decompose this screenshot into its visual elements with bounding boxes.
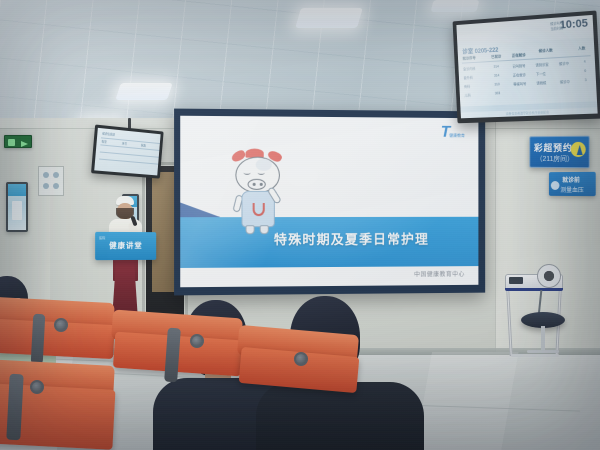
wall-bulletin-board <box>38 166 64 196</box>
tv-glare <box>456 15 597 118</box>
ceiling-light <box>295 8 363 28</box>
tv-left-label: 候诊信息屏 <box>102 131 115 136</box>
bp-monitor-stripe <box>505 288 563 291</box>
queue-board-screen: 10:05 候诊叫号 当前时间 诊室 0205-222 就诊序号 已就诊 正在就… <box>456 15 597 118</box>
panel-card <box>12 201 22 219</box>
panel-screen <box>8 184 26 230</box>
chair-armrest[interactable] <box>164 328 181 383</box>
sign-line-2: （211房间） <box>536 154 574 164</box>
podium-banner: 医院 健康讲堂 <box>95 232 156 260</box>
ceiling-tv-left: 候诊信息屏 科室 序号 状态 <box>91 125 164 179</box>
bp-sign-line-1: 就诊前 <box>562 175 580 184</box>
slide-logo-icon: T健康教育 <box>441 124 465 142</box>
logo-mark: T <box>441 124 450 141</box>
cow-mascot-icon <box>229 142 286 235</box>
tv-left-col: 序号 <box>122 141 127 145</box>
exit-sign-icon <box>4 135 32 148</box>
waiting-chairs-row[interactable] <box>0 300 294 450</box>
slide-footer: 中国健康教育中心 <box>414 269 465 278</box>
ceiling-light <box>115 83 173 100</box>
bp-monitor-display <box>509 277 523 284</box>
logo-subtext: 健康教育 <box>449 133 465 138</box>
tv-left-col: 科室 <box>101 139 106 144</box>
photo-scene: 候诊信息屏 科室 序号 状态 <box>0 0 600 450</box>
chair-pivot-knob <box>190 334 204 348</box>
projected-slide: 特殊时期及夏季日常护理 T健康教育 中国健康教育中心 <box>180 116 478 288</box>
ceiling-tv-right: 10:05 候诊叫号 当前时间 诊室 0205-222 就诊序号 已就诊 正在就… <box>453 10 600 123</box>
wall-info-panel-left[interactable] <box>6 182 28 232</box>
blood-pressure-sign: 就诊前 测量血压 <box>549 172 596 196</box>
cart-base <box>511 354 559 357</box>
stool-base <box>527 350 559 353</box>
slide-title: 特殊时期及夏季日常护理 <box>274 229 429 249</box>
wall-corner <box>495 115 496 355</box>
chair-pivot-knob <box>294 352 308 366</box>
podium-small-text: 医院 <box>99 236 105 240</box>
panel-header-band <box>8 184 26 196</box>
tv-left-col: 状态 <box>141 143 146 147</box>
ceiling-light <box>431 0 480 12</box>
podium-title: 健康讲堂 <box>109 240 142 251</box>
chair-pivot-knob <box>30 380 44 394</box>
chair-pivot-knob <box>54 318 68 332</box>
ultrasound-booking-sign: 彩超预约 （211房间） <box>529 136 589 169</box>
bp-cuff-icon <box>537 264 561 288</box>
bp-icon <box>551 181 560 190</box>
up-arrow-icon <box>571 142 586 157</box>
sign-line-1: 彩超预约 <box>534 141 573 154</box>
stool-stem <box>541 326 545 352</box>
tv-left-screen: 候诊信息屏 科室 序号 状态 <box>94 128 160 176</box>
bp-monitor-cart <box>505 262 577 362</box>
projector-screen: 特殊时期及夏季日常护理 T健康教育 中国健康教育中心 <box>174 109 485 296</box>
chair-armrest[interactable] <box>31 314 46 365</box>
bp-sign-line-2: 测量血压 <box>560 185 583 194</box>
